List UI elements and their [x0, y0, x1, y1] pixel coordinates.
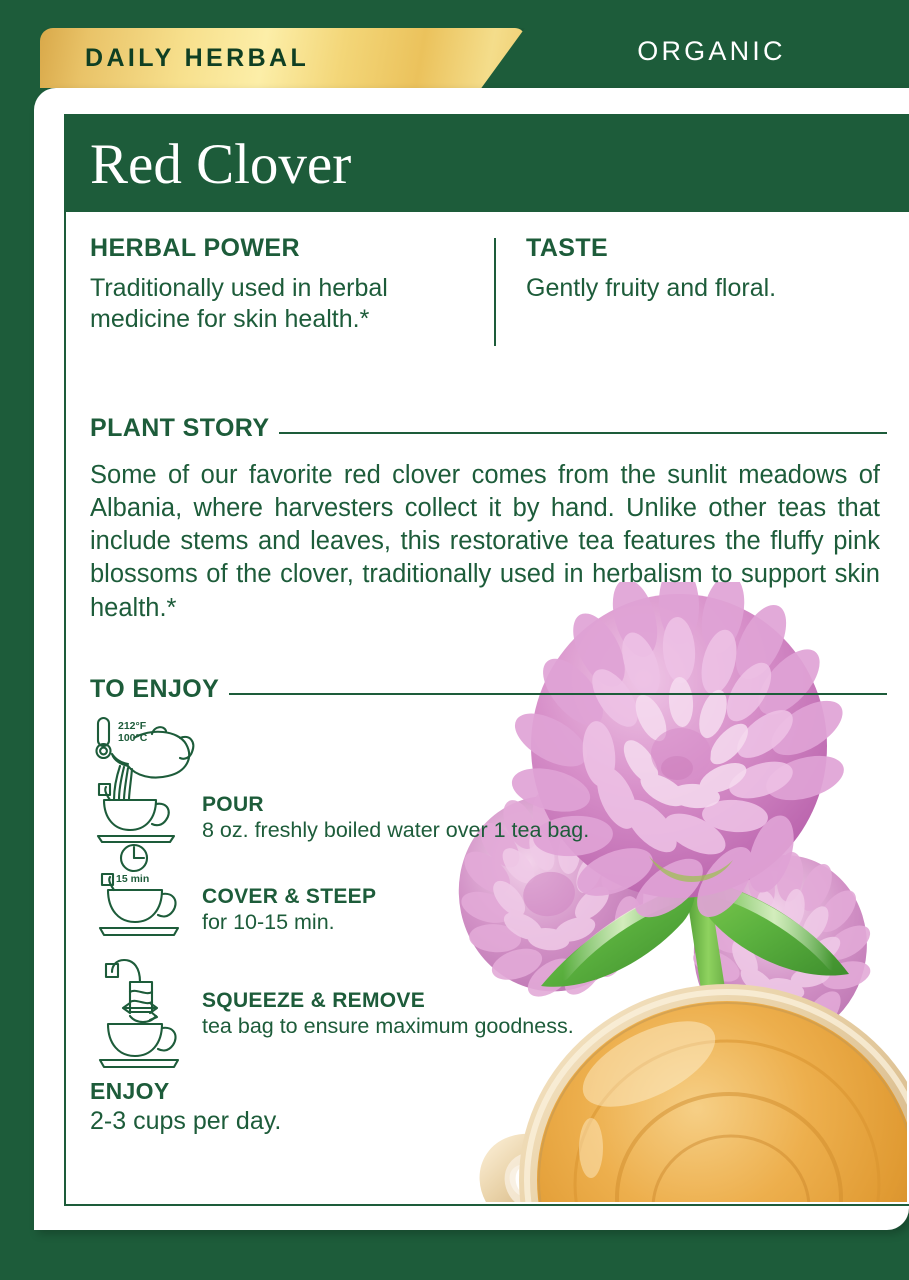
cup-timer-icon: 15 min	[90, 842, 202, 950]
plant-story-section: PLANT STORY Some of our favorite red clo…	[90, 414, 887, 625]
to-enjoy-rule	[229, 693, 887, 695]
squeeze-teabag-icon	[90, 952, 202, 1070]
organic-certification-label: ORGANIC	[514, 36, 909, 67]
info-card: Red Clover	[34, 88, 909, 1230]
steep-timer-label: 15 min	[116, 873, 149, 885]
taste-heading: TASTE	[526, 234, 776, 263]
brewing-step-cover-steep: 15 min COVER & STEEP for 10-15 min.	[90, 842, 887, 950]
brewing-step-pour: 212°F 100°C POUR 8 oz. freshly boiled wa…	[90, 714, 887, 848]
brewing-step-squeeze-remove: SQUEEZE & REMOVE tea bag to ensure maxim…	[90, 952, 887, 1070]
column-divider	[494, 238, 496, 346]
taste-body: Gently fruity and floral.	[526, 273, 776, 304]
product-title-bar: Red Clover	[66, 116, 909, 212]
plant-story-body: Some of our favorite red clover comes fr…	[90, 459, 880, 625]
herbal-power-heading: HERBAL POWER	[90, 234, 494, 263]
page-title: Red Clover	[66, 136, 351, 193]
teapot-pour-icon: 212°F 100°C	[90, 714, 202, 848]
enjoy-title: ENJOY	[90, 1078, 887, 1105]
herbal-power-block: HERBAL POWER Traditionally used in herba…	[90, 234, 494, 362]
temperature-celsius-label: 100°C	[118, 732, 148, 744]
to-enjoy-heading-rule: TO ENJOY	[90, 675, 887, 704]
plant-story-rule	[279, 432, 887, 434]
steep-text-block: COVER & STEEP for 10-15 min.	[202, 842, 376, 935]
pour-text-block: POUR 8 oz. freshly boiled water over 1 t…	[202, 714, 589, 843]
plant-story-heading-rule: PLANT STORY	[90, 414, 887, 443]
brewing-steps: 212°F 100°C POUR 8 oz. freshly boiled wa…	[90, 714, 887, 1137]
attributes-row: HERBAL POWER Traditionally used in herba…	[90, 234, 887, 362]
squeeze-text-block: SQUEEZE & REMOVE tea bag to ensure maxim…	[202, 952, 574, 1039]
to-enjoy-heading: TO ENJOY	[90, 675, 229, 704]
herbal-power-body: Traditionally used in herbal medicine fo…	[90, 273, 494, 336]
daily-herbal-tab: DAILY HERBAL	[40, 28, 525, 88]
plant-story-heading: PLANT STORY	[90, 414, 279, 443]
cover-steep-desc: for 10-15 min.	[202, 909, 376, 935]
card-content: HERBAL POWER Traditionally used in herba…	[66, 212, 909, 1137]
enjoy-block: ENJOY 2-3 cups per day.	[90, 1078, 887, 1137]
to-enjoy-section: TO ENJOY	[90, 675, 887, 1137]
pour-title: POUR	[202, 792, 589, 817]
squeeze-remove-desc: tea bag to ensure maximum goodness.	[202, 1013, 574, 1039]
squeeze-remove-title: SQUEEZE & REMOVE	[202, 988, 574, 1013]
pour-desc: 8 oz. freshly boiled water over 1 tea ba…	[202, 817, 589, 843]
enjoy-desc: 2-3 cups per day.	[90, 1106, 887, 1137]
card-inner-frame: Red Clover	[64, 114, 909, 1206]
daily-herbal-label: DAILY HERBAL	[40, 44, 309, 73]
tea-box-panel: DAILY HERBAL ORGANIC Red Clover	[0, 0, 909, 1280]
temperature-fahrenheit-label: 212°F	[118, 720, 147, 732]
taste-block: TASTE Gently fruity and floral.	[494, 234, 776, 362]
cover-steep-title: COVER & STEEP	[202, 884, 376, 909]
